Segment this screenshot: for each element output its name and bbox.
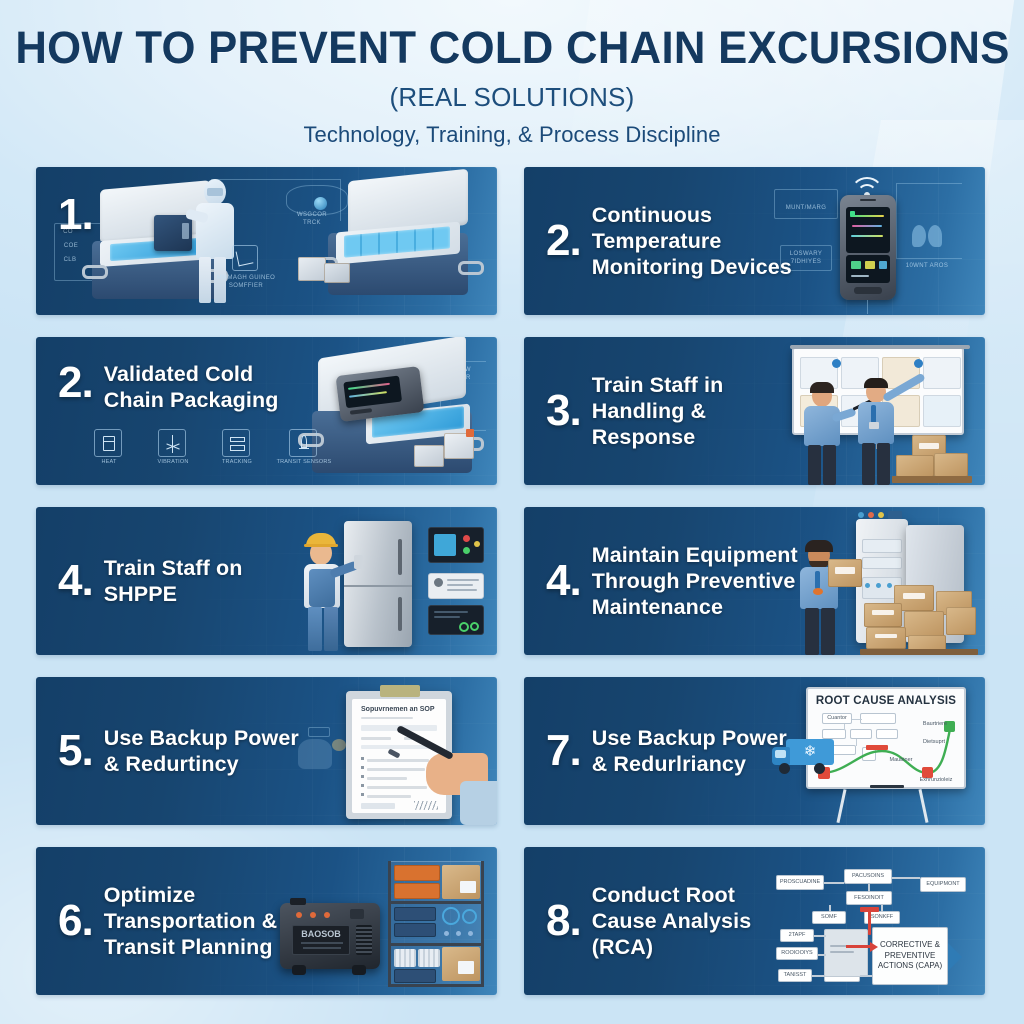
step-5-text: 4. Train Staff on SHPPE [36,507,313,655]
feature-caption: TRACKING [212,459,262,465]
step-card-8[interactable]: 7. Use Backup Power & Redurlriancy ROOT … [524,677,985,825]
rca-node: FESOINOIT [846,891,892,905]
rca-node: EQUIPMONT [920,877,966,892]
step-number: 8. [546,899,581,943]
feature-tracking: TRACKING [212,429,262,463]
step-1-text: 1. [36,167,104,315]
step-title: Maintain Equipment Through Preventive Ma… [592,542,801,621]
step-title: Validated Cold Chain Packaging [104,361,313,413]
step-number: 3. [546,389,581,433]
step-6-text: 4. Maintain Equipment Through Preventive… [524,507,801,655]
step-card-4[interactable]: 3. Train Staff in Handling & Response [524,337,985,485]
rca-node: Dietsuprt [918,737,950,747]
step-number: 6. [58,899,93,943]
step-card-3[interactable]: 2. Validated Cold Chain Packaging HEAT V… [36,337,497,485]
step-title: Optimize Transportation & Transit Planni… [104,882,313,961]
step-card-5[interactable]: 4. Train Staff on SHPPE [36,507,497,655]
rca-node: Maubiner [884,755,918,765]
step-card-1[interactable]: 1. CO COE CLB WSGCORTRCK [36,167,497,315]
step-1-artwork: CO COE CLB WSGCORTRCK [36,167,497,315]
feature-caption: VIBRATION [148,459,198,465]
step-10-text: 8. Conduct Root Cause Analysis (RCA) [524,847,801,995]
packaging-feature-icons: HEAT VIBRATION TRACKING [84,429,332,463]
step-number: 4. [58,559,93,603]
step-number: 2. [546,219,581,263]
feature-vibration: VIBRATION [148,429,198,463]
step-title: Conduct Root Cause Analysis (RCA) [592,882,801,961]
capa-outcome-box: CORRECTIVE & PREVENTIVE ACTIONS (CAPA) [872,927,948,985]
rca-node: PACUSOINS [844,869,892,884]
step-card-2[interactable]: 2. Continuous Temperature Monitoring Dev… [524,167,985,315]
page-subtitle: (REAL SOLUTIONS) [0,82,1024,113]
page-title: HOW TO PREVENT COLD CHAIN EXCURSIONS [15,22,1008,74]
step-card-7[interactable]: 5. Use Backup Power & Redurtincy Sopuvrn… [36,677,497,825]
infographic-header: HOW TO PREVENT COLD CHAIN EXCURSIONS (RE… [0,0,1024,148]
page-tagline: Technology, Training, & Process Discipli… [0,122,1024,148]
step-number: 2. [58,361,93,405]
feature-transit-sensors: TRANSIT SENSORS [276,429,332,463]
step-title: Use Backup Power & Redurlriancy [592,725,801,777]
rca-node: Baurtriere [918,719,952,729]
rca-node: Exhrunzioleiz [916,775,956,785]
step-4-text: 3. Train Staff in Handling & Response [524,337,801,485]
step-card-10[interactable]: 8. Conduct Root Cause Analysis (RCA) PRO… [524,847,985,995]
sop-heading: Sopuvrnemen an SOP [361,706,435,713]
feature-caption: HEAT [84,459,134,465]
rca-node: SOMF [812,911,846,924]
step-8-text: 7. Use Backup Power & Redurlriancy [524,677,801,825]
step-number: 5. [58,729,93,773]
step-number: 1. [58,193,93,237]
step-title: Train Staff on SHPPE [104,555,313,607]
step-7-text: 5. Use Backup Power & Redurtincy [36,677,313,825]
step-title: Train Staff in Handling & Response [592,372,801,451]
step-card-6[interactable]: 4. Maintain Equipment Through Preventive… [524,507,985,655]
cards-grid: 1. CO COE CLB WSGCORTRCK [36,167,988,995]
step-card-9[interactable]: 6. Optimize Transportation & Transit Pla… [36,847,497,995]
feature-heat: HEAT [84,429,134,463]
step-title: Continuous Temperature Monitoring Device… [592,202,801,281]
step-9-text: 6. Optimize Transportation & Transit Pla… [36,847,313,995]
step-number: 4. [546,559,581,603]
step-number: 7. [546,729,581,773]
feature-caption: TRANSIT SENSORS [276,459,332,465]
step-2-text: 2. Continuous Temperature Monitoring Dev… [524,167,801,315]
step-title: Use Backup Power & Redurtincy [104,725,313,777]
